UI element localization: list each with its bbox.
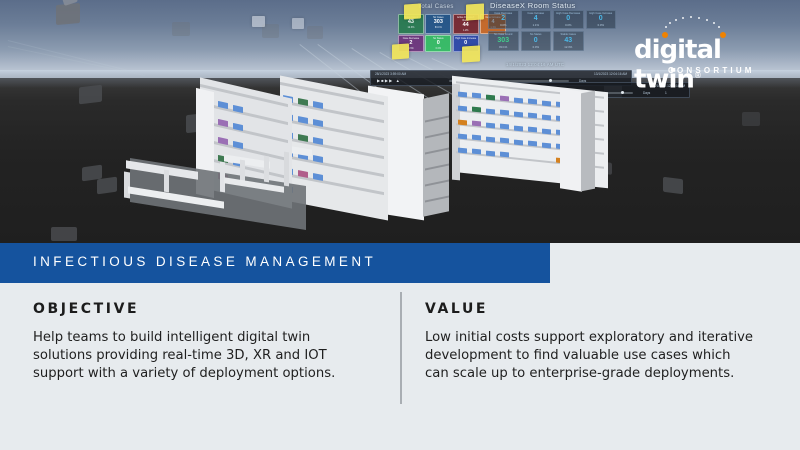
floating-cube <box>79 85 102 105</box>
kpi-pct: 83.1% <box>491 45 516 49</box>
tile-pct: 12.3% <box>400 26 422 29</box>
room-bed <box>500 138 509 144</box>
sticky-note-plane <box>292 18 304 29</box>
floating-cube <box>172 22 190 36</box>
logo-subtitle: CONSORTIUM <box>668 66 755 75</box>
kpi-value: 2 <box>491 15 516 23</box>
room-bed <box>500 152 509 158</box>
tile-pct: 0.0% <box>427 47 449 50</box>
room-bed <box>542 115 551 121</box>
sticky-note-plane <box>252 16 265 27</box>
kpi-value: 0 <box>589 15 614 23</box>
kpi-card[interactable]: No Status 0 0.0% <box>521 31 552 50</box>
arc-dot <box>675 19 677 21</box>
room-bed <box>528 127 537 133</box>
arc-dot <box>665 26 667 28</box>
room-status-dashboard[interactable]: DiseaseX Room Status Case Decrease 2 0.0… <box>486 0 618 78</box>
value-column: VALUE Low initial costs support explorat… <box>425 283 755 383</box>
objective-column: OBJECTIVE Help teams to build intelligen… <box>33 283 353 383</box>
arc-dot <box>690 16 692 18</box>
kpi-value: 43 <box>556 37 581 45</box>
room-bed <box>528 141 537 147</box>
title-banner: INFECTIOUS DISEASE MANAGEMENT <box>0 243 550 283</box>
room-bed <box>542 129 551 135</box>
annex-wall <box>284 152 289 187</box>
room-bed <box>542 143 551 149</box>
kpi-pct: 1.1% <box>524 23 549 27</box>
tower-face <box>560 88 582 191</box>
arc-dot <box>706 19 708 21</box>
room-bed <box>486 151 495 157</box>
room-bed <box>486 95 495 101</box>
hospital-ground-annex[interactable] <box>124 158 314 230</box>
tile-pct: 83.1% <box>427 26 449 29</box>
room-bed <box>486 109 495 115</box>
annex-wall <box>124 172 130 199</box>
kpi-value: 0 <box>524 37 549 45</box>
floating-cube <box>97 177 117 195</box>
logo-word-text: digital twin <box>634 35 721 95</box>
room-bed <box>500 96 509 102</box>
room-bed <box>486 137 495 143</box>
sticky-note-plane <box>404 3 421 19</box>
kpi-pct: 12.3% <box>556 45 581 49</box>
floating-cube <box>307 26 323 39</box>
kpi-pct: 0.0% <box>556 23 581 27</box>
status-tile[interactable]: No Cases 303 83.1% <box>425 14 451 34</box>
arc-dot <box>669 22 671 24</box>
room-bed <box>528 113 537 119</box>
slide-root: Total Cases Stable Cases 43 12.3% No Cas… <box>0 0 800 450</box>
value-heading: VALUE <box>425 301 755 317</box>
annex-wall <box>264 156 269 183</box>
page-title: INFECTIOUS DISEASE MANAGEMENT <box>33 254 376 269</box>
objective-body: Help teams to build intelligent digital … <box>33 329 353 383</box>
dashboard-title: DiseaseX Room Status <box>490 1 576 10</box>
timeline-end-label: 13/1/2023 12:04:16 AM <box>594 72 627 76</box>
kpi-pct: 0.0% <box>589 23 614 27</box>
room-bed <box>542 101 551 107</box>
kpi-card[interactable]: No Case Found 303 83.1% <box>488 31 519 50</box>
room-bed <box>514 98 523 104</box>
room-bed <box>500 110 509 116</box>
room-bed <box>514 126 523 132</box>
room-bed <box>514 112 523 118</box>
kpi-card[interactable]: Case Decrease 2 0.0% <box>488 10 519 29</box>
kpi-card[interactable]: Stable Cases 43 12.3% <box>553 31 584 50</box>
tile-pct: 1.2% <box>455 29 477 32</box>
floating-cube <box>742 112 760 126</box>
timeline-start-label: 28/1/2023 3:59:00 AM <box>375 72 406 76</box>
floating-cube <box>56 3 80 25</box>
kpi-card[interactable]: High Case Increase 0 0.0% <box>586 10 617 29</box>
arc-dot <box>682 17 684 19</box>
arc-dot <box>698 17 700 19</box>
floating-cube <box>51 227 77 241</box>
kpi-pct: 0.0% <box>524 45 549 49</box>
sticky-note-plane <box>462 45 480 62</box>
room-bed <box>486 123 495 129</box>
sticky-note-plane <box>392 43 409 59</box>
dashboard-timestamp: 14/1/2023 12:04:16 AM UTC <box>506 62 564 67</box>
logo-wordmark: digital twin® <box>634 37 786 93</box>
room-bed <box>500 124 509 130</box>
sticky-note-plane <box>466 3 484 20</box>
tower-side <box>581 91 595 192</box>
kpi-value: 4 <box>524 15 549 23</box>
content-area: OBJECTIVE Help teams to build intelligen… <box>0 283 800 450</box>
arc-dot <box>718 26 720 28</box>
timeline-knob[interactable] <box>621 91 624 94</box>
kpi-card[interactable]: High Case Decrease 0 0.0% <box>553 10 584 29</box>
room-bed <box>514 140 523 146</box>
kpi-value: 0 <box>556 15 581 23</box>
objective-heading: OBJECTIVE <box>33 301 353 317</box>
logo[interactable]: digital twin® CONSORTIUM <box>626 16 786 80</box>
column-divider <box>400 292 402 404</box>
tile-panel-title: Total Cases <box>418 4 454 10</box>
room-bed <box>528 99 537 105</box>
floating-cube <box>663 177 683 194</box>
kpi-grid: Case Decrease 2 0.0% Case Increase 4 1.1… <box>488 10 616 51</box>
arc-dot <box>713 22 715 24</box>
hospital-right-tower[interactable] <box>560 90 600 195</box>
status-tile[interactable]: No Status 0 0.0% <box>425 35 451 52</box>
value-body: Low initial costs support exploratory an… <box>425 329 755 383</box>
kpi-pct: 0.0% <box>491 23 516 27</box>
kpi-value: 303 <box>491 37 516 45</box>
kpi-card[interactable]: Case Increase 4 1.1% <box>521 10 552 29</box>
annex-wall <box>164 170 169 193</box>
playback-controls[interactable]: ▶■▶▶ ▲ <box>377 78 401 83</box>
